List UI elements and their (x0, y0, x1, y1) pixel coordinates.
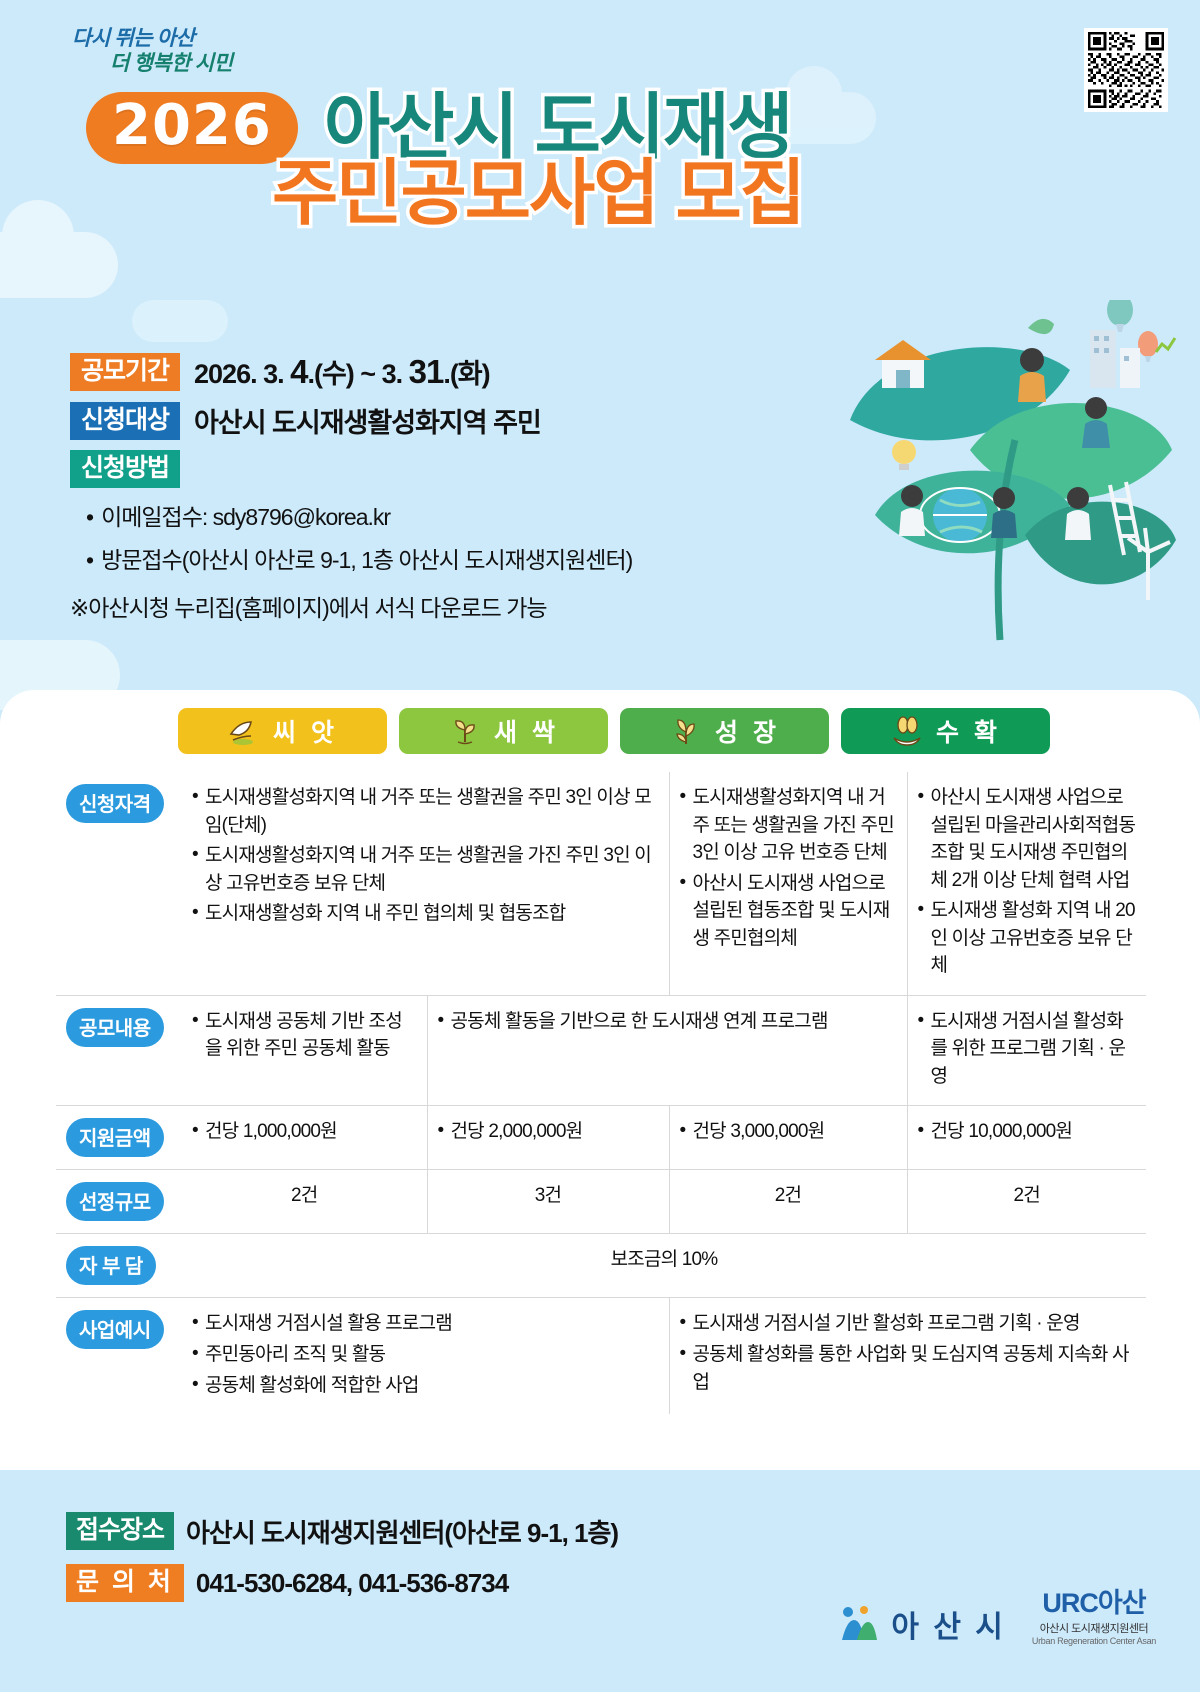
list-item: 도시재생활성화지역 내 거주 또는 생활권을 주민 3인 이상 모임(단체) (192, 784, 659, 839)
target-value: 아산시 도시재생활성화지역 주민 (194, 401, 541, 440)
urban-regeneration-illustration (820, 300, 1180, 650)
list-item: 도시재생활성화지역 내 거주 또는 생활권을 가진 주민 3인 이상 고유번호증… (192, 842, 659, 897)
stage-tab-sprout[interactable]: 새 싹 (399, 708, 608, 754)
place-label: 접수장소 (66, 1512, 174, 1550)
table-cell: 2건 (182, 1170, 427, 1234)
poster-footer: 접수장소 아산시 도시재생지원센터(아산로 9-1, 1층) 문 의 처 041… (0, 1470, 1200, 1692)
list-item: 공동체 활성화를 통한 사업화 및 도심지역 공동체 지속화 사업 (680, 1341, 1137, 1396)
list-item: 아산시 도시재생 사업으로 설립된 마을관리사회적협동조합 및 도시재생 주민협… (918, 784, 1137, 894)
contact-value: 041-530-6284, 041-536-8734 (196, 1568, 508, 1599)
sprout-icon (448, 716, 482, 746)
list-item: 주민동아리 조직 및 활동 (192, 1341, 659, 1369)
contact-label: 문 의 처 (66, 1564, 184, 1602)
seed-icon (227, 716, 261, 746)
list-item: 도시재생 거점시설 기반 활성화 프로그램 기획 · 운영 (680, 1310, 1137, 1338)
table-row: 신청자격 도시재생활성화지역 내 거주 또는 생활권을 주민 3인 이상 모임(… (56, 772, 1146, 995)
list-item: 방문접수(아산시 아산로 9-1, 1층 아산시 도시재생지원센터) (86, 541, 750, 575)
row-label-cell: 자 부 담 (56, 1234, 182, 1298)
table-cell: 공동체 활동을 기반으로 한 도시재생 연계 프로그램 (427, 995, 907, 1106)
table-cell: 도시재생 거점시설 활용 프로그램 주민동아리 조직 및 활동 공동체 활성화에… (182, 1298, 669, 1414)
table-cell: 도시재생 거점시설 활성화를 위한 프로그램 기획 · 운영 (907, 995, 1146, 1106)
list-item: 도시재생 공동체 기반 조성을 위한 주민 공동체 활동 (192, 1008, 417, 1063)
footer-row-place: 접수장소 아산시 도시재생지원센터(아산로 9-1, 1층) (66, 1512, 1200, 1550)
table-cell: 도시재생 공동체 기반 조성을 위한 주민 공동체 활동 (182, 995, 427, 1106)
list-item: 도시재생활성화 지역 내 주민 협의체 및 협동조합 (192, 900, 659, 928)
urc-logo-text: URC아산 (1032, 1581, 1156, 1620)
row-label-cell: 사업예시 (56, 1298, 182, 1414)
table-row: 선정규모 2건 3건 2건 2건 (56, 1170, 1146, 1234)
table-cell: 건당 1,000,000원 (182, 1106, 427, 1170)
list-item: 공동체 활동을 기반으로 한 도시재생 연계 프로그램 (438, 1008, 897, 1036)
table-cell: 도시재생활성화지역 내 거주 또는 생활권을 가진 주민 3인 이상 고유 번호… (669, 772, 907, 995)
row-label: 지원금액 (66, 1118, 164, 1157)
info-row-target: 신청대상 아산시 도시재생활성화지역 주민 (70, 401, 750, 440)
row-label: 공모내용 (66, 1008, 164, 1047)
city-slogan: 다시 뛰는 아산 더 행복한 시민 (72, 26, 232, 76)
row-label: 자 부 담 (66, 1246, 156, 1285)
period-value: 2026. 3. 4.(수) ~ 3. 31.(화) (194, 352, 490, 391)
table-cell: 건당 10,000,000원 (907, 1106, 1146, 1170)
row-label: 사업예시 (66, 1310, 164, 1349)
row-label-cell: 신청자격 (56, 772, 182, 995)
row-label-cell: 공모내용 (56, 995, 182, 1106)
row-label-cell: 선정규모 (56, 1170, 182, 1234)
list-item: 도시재생 거점시설 활용 프로그램 (192, 1310, 659, 1338)
urc-logo-sub-en: Urban Regeneration Center Asan (1032, 1636, 1156, 1646)
table-cell: 보조금의 10% (182, 1234, 1146, 1298)
table-cell: 도시재생활성화지역 내 거주 또는 생활권을 주민 3인 이상 모임(단체) 도… (182, 772, 669, 995)
harvest-icon (890, 716, 924, 746)
stage-tabs: 씨 앗 새 싹 성 장 수 확 (0, 690, 1200, 754)
table-cell: 건당 3,000,000원 (669, 1106, 907, 1170)
table-row: 사업예시 도시재생 거점시설 활용 프로그램 주민동아리 조직 및 활동 공동체… (56, 1298, 1146, 1414)
slogan-line-2: 더 행복한 시민 (110, 51, 232, 76)
asan-logo-mark-icon (837, 1604, 883, 1644)
row-label: 선정규모 (66, 1182, 164, 1221)
stage-tab-harvest[interactable]: 수 확 (841, 708, 1050, 754)
headline-year: 2026 (86, 92, 298, 164)
asan-logo-text: 아 산 시 (891, 1602, 1005, 1646)
cloud-decoration (0, 232, 118, 298)
program-comparison-table: 신청자격 도시재생활성화지역 내 거주 또는 생활권을 주민 3인 이상 모임(… (56, 772, 1146, 1414)
method-list: 이메일접수: sdy8796@korea.kr 방문접수(아산시 아산로 9-1… (86, 498, 750, 575)
cloud-decoration (132, 300, 228, 342)
place-value: 아산시 도시재생지원센터(아산로 9-1, 1층) (186, 1513, 618, 1550)
list-item: 도시재생활성화지역 내 거주 또는 생활권을 가진 주민 3인 이상 고유 번호… (680, 784, 897, 867)
list-item: 아산시 도시재생 사업으로 설립된 협동조합 및 도시재생 주민협의체 (680, 870, 897, 953)
list-item: 공동체 활성화에 적합한 사업 (192, 1372, 659, 1400)
growth-icon (669, 716, 703, 746)
list-item: 이메일접수: sdy8796@korea.kr (86, 498, 750, 532)
table-cell: 3건 (427, 1170, 669, 1234)
poster-headline: 2026 아산시 도시재생 주민공모사업 모집 (0, 92, 1200, 230)
list-item: 도시재생 활성화 지역 내 20인 이상 고유번호증 보유 단체 (918, 897, 1137, 980)
table-row: 지원금액 건당 1,000,000원 건당 2,000,000원 건당 3,00… (56, 1106, 1146, 1170)
list-item: 건당 10,000,000원 (918, 1118, 1137, 1146)
table-cell: 2건 (669, 1170, 907, 1234)
footer-logos: 아 산 시 URC아산 아산시 도시재생지원센터 Urban Regenerat… (837, 1581, 1156, 1646)
stage-tab-label: 새 싹 (494, 713, 559, 749)
stage-tab-label: 씨 앗 (273, 713, 338, 749)
info-row-period: 공모기간 2026. 3. 4.(수) ~ 3. 31.(화) (70, 352, 750, 391)
slogan-line-1: 다시 뛰는 아산 (72, 26, 232, 51)
list-item: 도시재생 거점시설 활성화를 위한 프로그램 기획 · 운영 (918, 1008, 1137, 1091)
download-note: ※아산시청 누리집(홈페이지)에서 서식 다운로드 가능 (70, 589, 750, 623)
urc-logo-sub-ko: 아산시 도시재생지원센터 (1032, 1620, 1156, 1636)
poster-root: 다시 뛰는 아산 더 행복한 시민 2026 아산시 도시재생 주민공모사업 모… (0, 0, 1200, 1692)
list-item: 건당 1,000,000원 (192, 1118, 417, 1146)
period-label: 공모기간 (70, 353, 180, 391)
urc-asan-logo: URC아산 아산시 도시재생지원센터 Urban Regeneration Ce… (1032, 1581, 1156, 1646)
list-item: 건당 3,000,000원 (680, 1118, 897, 1146)
table-row: 공모내용 도시재생 공동체 기반 조성을 위한 주민 공동체 활동 공동체 활동… (56, 995, 1146, 1106)
asan-city-logo: 아 산 시 (837, 1602, 1005, 1646)
headline-line-2: 주민공모사업 모집 (272, 158, 804, 230)
stage-tab-seed[interactable]: 씨 앗 (178, 708, 387, 754)
target-label: 신청대상 (70, 402, 180, 440)
table-cell: 건당 2,000,000원 (427, 1106, 669, 1170)
row-label: 신청자격 (66, 784, 164, 823)
method-label: 신청방법 (70, 450, 180, 488)
info-row-method: 신청방법 (70, 450, 750, 488)
stage-tab-label: 수 확 (936, 713, 1001, 749)
stage-tab-growth[interactable]: 성 장 (620, 708, 829, 754)
table-row: 자 부 담 보조금의 10% (56, 1234, 1146, 1298)
application-info: 공모기간 2026. 3. 4.(수) ~ 3. 31.(화) 신청대상 아산시… (70, 352, 750, 623)
table-cell: 아산시 도시재생 사업으로 설립된 마을관리사회적협동조합 및 도시재생 주민협… (907, 772, 1146, 995)
table-cell: 2건 (907, 1170, 1146, 1234)
table-cell: 도시재생 거점시설 기반 활성화 프로그램 기획 · 운영 공동체 활성화를 통… (669, 1298, 1146, 1414)
stage-tab-label: 성 장 (715, 713, 780, 749)
row-label-cell: 지원금액 (56, 1106, 182, 1170)
list-item: 건당 2,000,000원 (438, 1118, 659, 1146)
